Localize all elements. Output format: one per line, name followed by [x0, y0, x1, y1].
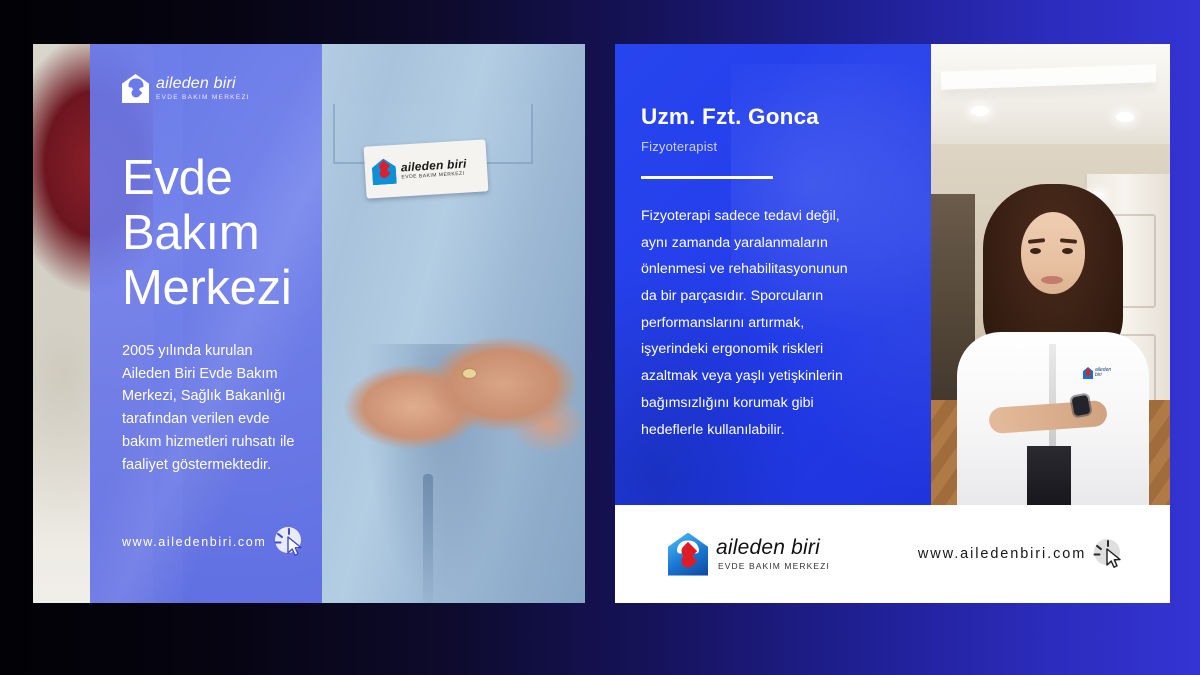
ceiling	[931, 44, 1170, 154]
trousers	[1027, 446, 1071, 505]
click-cursor-icon	[275, 527, 305, 557]
badge-house-icon	[371, 158, 397, 185]
clasped-hands	[333, 329, 583, 474]
footer-website-url[interactable]: www.ailedenbiri.com	[918, 546, 1086, 562]
brand-tagline: EVDE BAKIM MERKEZI	[156, 95, 250, 102]
eye	[1062, 248, 1073, 254]
brand-name: aileden biri	[156, 76, 250, 92]
finger-ring	[463, 369, 476, 378]
right-text-panel: Uzm. Fzt. Gonca Fizyoterapist Fizyoterap…	[615, 44, 931, 505]
right-card-footer-bar: aileden biri EVDE BAKIM MERKEZI www.aile…	[615, 505, 1170, 603]
left-card-body-text: 2005 yılında kurulan Aileden Biri Evde B…	[122, 340, 296, 477]
mouse-pointer-arrow-icon	[1106, 548, 1123, 568]
left-website-url[interactable]: www.ailedenbiri.com	[122, 535, 266, 549]
right-card-photo: aileden biri	[931, 44, 1170, 505]
coat-brand-patch: aileden biri	[1083, 364, 1117, 382]
scrubs-seam	[423, 474, 433, 603]
cursor-spark	[1094, 554, 1101, 556]
mouse-pointer-arrow-icon	[287, 536, 304, 556]
ceiling-spotlight	[971, 106, 989, 116]
lips	[1041, 276, 1063, 284]
person-role: Fizyoterapist	[641, 139, 905, 154]
person-name: Uzm. Fzt. Gonca	[641, 104, 905, 130]
left-card-heading: Evde Bakım Merkezi	[122, 151, 296, 316]
left-text-overlay-panel: aileden biri EVDE BAKIM MERKEZI Evde Bak…	[90, 44, 322, 603]
brand-logo-left: aileden biri EVDE BAKIM MERKEZI	[122, 74, 296, 103]
house-family-heart-icon	[122, 74, 149, 103]
footer-website-row[interactable]: www.ailedenbiri.com	[918, 539, 1124, 569]
wrist-watch	[1071, 395, 1090, 416]
left-slide-card: aileden biri EVDE BAKIM MERKEZI aileden …	[33, 44, 585, 603]
right-card-body-text: Fizyoterapi sadece tedavi değil, aynı za…	[641, 203, 905, 443]
uniform-name-badge: aileden biri EVDE BAKIM MERKEZI	[364, 139, 489, 198]
left-website-row[interactable]: www.ailedenbiri.com	[122, 527, 305, 557]
patch-brand-name: aileden biri	[1095, 368, 1117, 378]
ceiling-spotlight	[1116, 112, 1134, 122]
presentation-canvas: aileden biri EVDE BAKIM MERKEZI aileden …	[0, 0, 1200, 675]
cursor-spark	[1107, 540, 1109, 547]
house-family-heart-icon	[668, 533, 708, 576]
eye	[1030, 248, 1041, 254]
footer-brand-name: aileden biri	[716, 537, 830, 558]
patch-house-icon	[1083, 367, 1093, 379]
footer-brand-tagline: EVDE BAKIM MERKEZI	[718, 562, 830, 571]
cursor-spark	[275, 542, 282, 544]
right-slide-card: Uzm. Fzt. Gonca Fizyoterapist Fizyoterap…	[615, 44, 1170, 603]
click-cursor-icon	[1094, 539, 1124, 569]
brand-logo-footer: aileden biri EVDE BAKIM MERKEZI	[668, 533, 830, 576]
divider-rule	[641, 176, 773, 179]
